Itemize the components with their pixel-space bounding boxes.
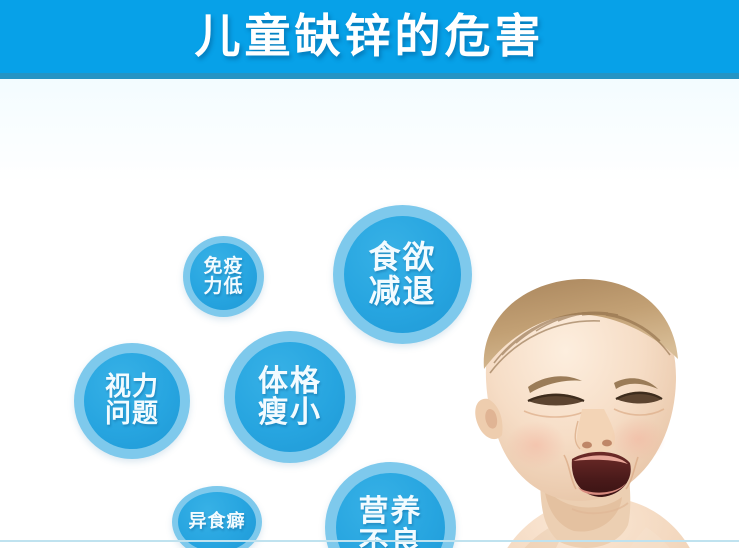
- bubble-appetite[interactable]: 食欲 减退: [333, 205, 472, 344]
- bubble-pica-label: 异食癖: [189, 513, 246, 532]
- bubble-immunity-disc: 免疫 力低: [190, 243, 257, 310]
- bubble-appetite-label: 食欲 减退: [368, 241, 436, 308]
- bubble-malnutrition-disc: 营养 不良: [336, 473, 445, 548]
- bubble-immunity-label: 免疫 力低: [203, 257, 243, 297]
- bubble-vision-disc: 视力 问题: [84, 353, 180, 449]
- bubble-pica[interactable]: 异食癖: [172, 486, 262, 548]
- page-title: 儿童缺锌的危害: [0, 6, 739, 66]
- content-area: 免疫 力低 食欲 减退 视力 问题 体格 瘦小 异食癖 营养 不良: [0, 79, 739, 548]
- bubble-immunity[interactable]: 免疫 力低: [183, 236, 264, 317]
- bottom-divider: [0, 540, 739, 542]
- bubble-vision[interactable]: 视力 问题: [74, 343, 190, 459]
- bubble-physique-disc: 体格 瘦小: [235, 342, 345, 452]
- baby-photo: [432, 259, 739, 548]
- poster-canvas: 儿童缺锌的危害: [0, 0, 739, 548]
- bubble-physique[interactable]: 体格 瘦小: [224, 331, 356, 463]
- bubble-physique-label: 体格 瘦小: [258, 366, 322, 428]
- bubble-appetite-disc: 食欲 减退: [344, 216, 461, 333]
- bubble-vision-label: 视力 问题: [105, 374, 159, 428]
